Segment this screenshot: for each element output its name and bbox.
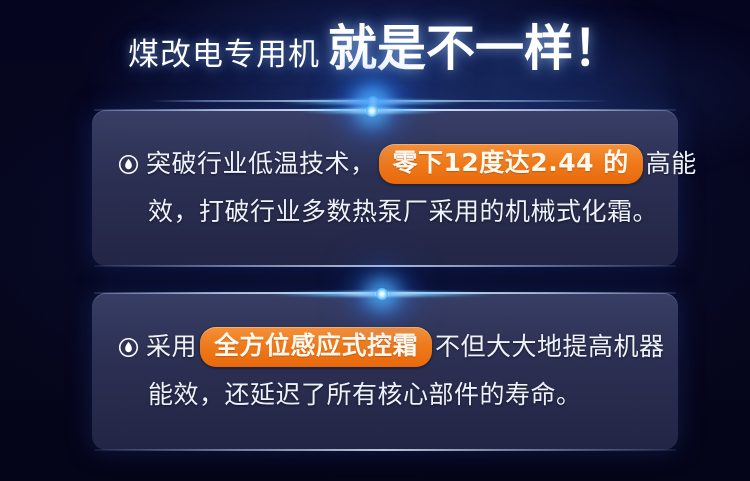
card-2-bottom-highlight	[94, 449, 676, 451]
feature-card-2-line-2-text: 能效，还延迟了所有核心部件的寿命。	[148, 380, 582, 409]
circle-drop-icon	[118, 326, 139, 347]
feature-card-2-line-1-before: 采用	[146, 332, 197, 361]
card-1-top-highlight	[94, 109, 676, 111]
feature-card-2-line-1-after: 不但大大地提高机器	[435, 332, 665, 361]
card-2-top-highlight	[94, 292, 676, 294]
feature-card-2: 采用全方位感应式控霜不但大大地提高机器 能效，还延迟了所有核心部件的寿命。	[92, 293, 678, 450]
highlight-badge-1: 零下12度达2.44 的	[379, 144, 643, 184]
headline-emphasis: 就是不一样！	[328, 20, 622, 77]
circle-drop-icon	[118, 143, 139, 164]
headline-light-streak	[150, 100, 610, 102]
feature-card-1-line-1-after: 高能	[646, 149, 697, 178]
promo-poster: 煤改电专用机就是不一样！ 突破行业低温技术，零下12度达2.44 的高能 效，打…	[0, 0, 750, 481]
feature-card-1-line-1: 突破行业低温技术，零下12度达2.44 的高能	[118, 140, 660, 188]
feature-card-1-body: 突破行业低温技术，零下12度达2.44 的高能 效，打破行业多数热泵厂采用的机械…	[118, 140, 660, 236]
headline: 煤改电专用机就是不一样！	[0, 24, 750, 73]
feature-card-1-line-2: 效，打破行业多数热泵厂采用的机械式化霜。	[118, 188, 660, 236]
card-1-bottom-highlight	[94, 265, 676, 267]
feature-card-2-line-2: 能效，还延迟了所有核心部件的寿命。	[118, 371, 660, 419]
feature-card-1: 突破行业低温技术，零下12度达2.44 的高能 效，打破行业多数热泵厂采用的机械…	[92, 110, 678, 266]
feature-card-2-body: 采用全方位感应式控霜不但大大地提高机器 能效，还延迟了所有核心部件的寿命。	[118, 323, 660, 419]
feature-card-1-line-1-before: 突破行业低温技术，	[146, 149, 376, 178]
feature-card-2-line-1: 采用全方位感应式控霜不但大大地提高机器	[118, 323, 660, 371]
feature-card-1-line-2-text: 效，打破行业多数热泵厂采用的机械式化霜。	[148, 197, 658, 226]
highlight-badge-2: 全方位感应式控霜	[200, 327, 432, 367]
headline-prefix: 煤改电专用机	[128, 37, 320, 73]
